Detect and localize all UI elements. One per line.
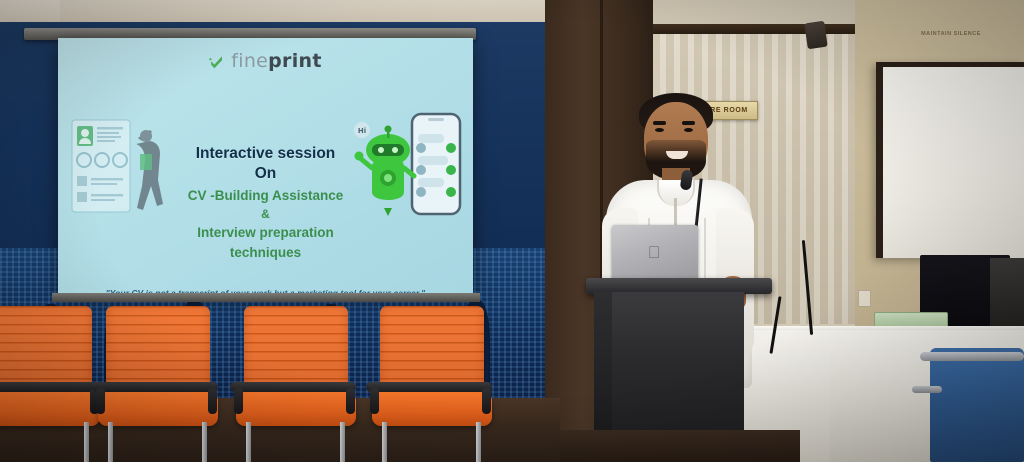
- chair-seat: [236, 392, 356, 426]
- apple-logo-icon: : [646, 244, 662, 262]
- chair-arm-post: [208, 388, 217, 414]
- wall-speaker: [804, 21, 827, 50]
- blue-chair-armrest: [912, 386, 942, 393]
- maintain-silence-sign-label: MAINTAIN SILENCE: [921, 31, 981, 37]
- slide-subtitle-line1: CV -Building Assistance: [58, 186, 473, 206]
- svg-text:Hi: Hi: [358, 127, 366, 135]
- fineprint-checkmark-logo-icon: [209, 54, 224, 69]
- projector-screen: Hi fineprint Interactive session On CV -…: [58, 38, 473, 293]
- presenter-eye: [655, 128, 664, 132]
- chair-arm-post: [370, 388, 379, 414]
- blue-chair-rail: [920, 352, 1024, 361]
- orange-chair[interactable]: [0, 300, 104, 462]
- blue-chair[interactable]: [930, 348, 1024, 462]
- logo-word-print: print: [268, 50, 322, 72]
- chair-armrest: [230, 382, 356, 392]
- chair-leg: [84, 422, 89, 462]
- slide-subtitle: CV -Building Assistance & Interview prep…: [58, 186, 473, 262]
- chair-armrest: [0, 382, 100, 392]
- orange-chair[interactable]: [232, 300, 360, 462]
- floor-right: [560, 430, 800, 462]
- chair-leg: [340, 422, 345, 462]
- slide-title-line1: Interactive session: [58, 144, 473, 164]
- fineprint-logo: fineprint: [58, 52, 473, 71]
- chair-armrest: [92, 382, 218, 392]
- chair-leg: [246, 422, 251, 462]
- light-switch-plate[interactable]: [858, 290, 871, 307]
- equipment-rack: [990, 258, 1024, 336]
- whiteboard: [876, 62, 1024, 258]
- presenter-eyebrow: [682, 121, 695, 125]
- presentation-photograph: Hi fineprint Interactive session On CV -…: [0, 0, 1024, 462]
- presenter-eye: [684, 128, 693, 132]
- slide-subtitle-line3: techniques: [58, 243, 473, 263]
- presenter-eyebrow: [653, 121, 666, 125]
- slide-title: Interactive session On: [58, 144, 473, 185]
- chair-arm-post: [234, 388, 243, 414]
- slide-subtitle-line2: Interview preparation: [58, 223, 473, 243]
- chair-seat: [372, 392, 492, 426]
- orange-chair[interactable]: [94, 300, 222, 462]
- orange-chair[interactable]: [368, 300, 496, 462]
- maintain-silence-sign: MAINTAIN SILENCE: [913, 27, 989, 41]
- chair-arm-post: [482, 388, 491, 414]
- logo-word-fine: fine: [231, 50, 268, 72]
- podium-side-panel: [594, 292, 614, 442]
- chair-leg: [108, 422, 113, 462]
- chair-seat: [98, 392, 218, 426]
- slide-title-line2: On: [58, 164, 473, 184]
- chair-leg: [382, 422, 387, 462]
- audience-chair-row: [0, 300, 560, 462]
- chair-arm-post: [96, 388, 105, 414]
- chair-leg: [476, 422, 481, 462]
- chair-seat: [0, 392, 100, 426]
- chair-arm-post: [346, 388, 355, 414]
- slide-subtitle-ampersand: &: [58, 206, 473, 223]
- chair-leg: [202, 422, 207, 462]
- chair-armrest: [366, 382, 492, 392]
